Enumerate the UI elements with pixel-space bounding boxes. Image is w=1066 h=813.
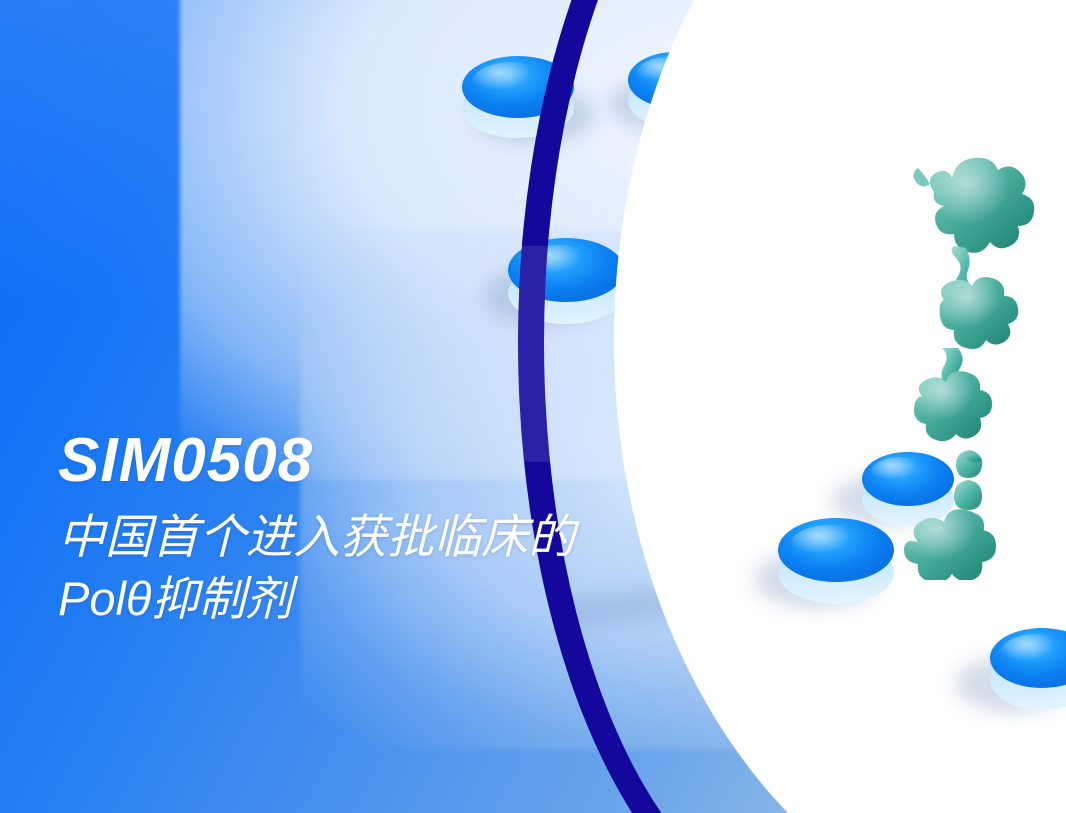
- subtitle-line-one: 中国首个进入获批临床的: [58, 506, 575, 568]
- tablet-gloss: [1000, 634, 1066, 674]
- blue-tablet: [990, 628, 1066, 710]
- tablet-gloss: [472, 62, 548, 104]
- poster-text-block: SIM0508 中国首个进入获批临床的 Polθ抑制剂: [58, 430, 575, 630]
- protein-domain-3: [914, 371, 992, 441]
- protein-domain-top: [913, 158, 1034, 253]
- page-title: SIM0508: [58, 430, 575, 492]
- blue-tablet: [778, 518, 894, 604]
- protein-domain-2: [940, 277, 1019, 349]
- protein-structure-icon: [896, 150, 1066, 580]
- tablet-gloss: [790, 525, 868, 567]
- poster-canvas: SIM0508 中国首个进入获批临床的 Polθ抑制剂: [0, 0, 1066, 813]
- subtitle-line-two: Polθ抑制剂: [58, 568, 575, 630]
